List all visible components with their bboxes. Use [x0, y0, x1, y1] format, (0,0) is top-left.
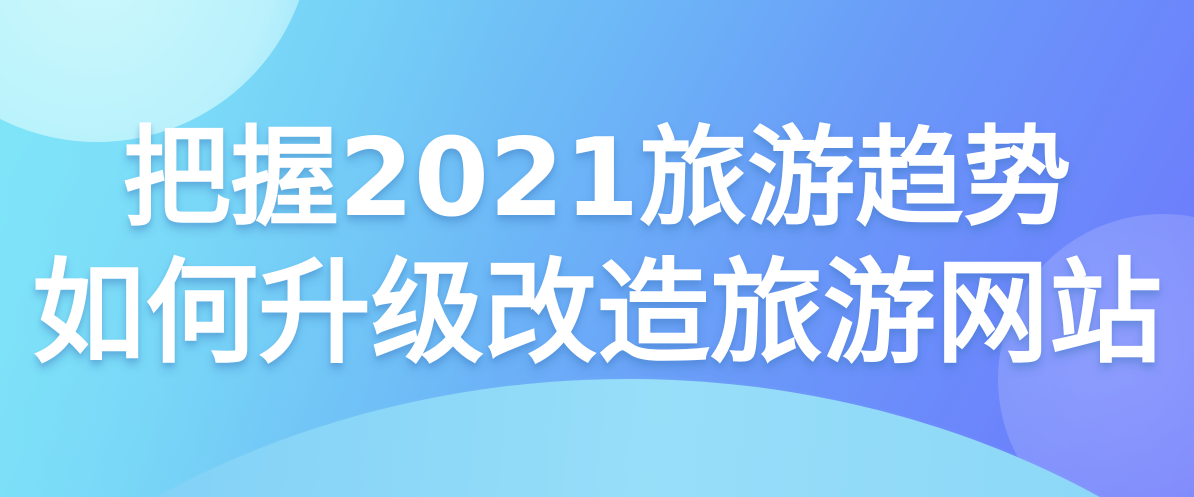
headline-block: 把握2021旅游趋势 如何升级改造旅游网站: [0, 0, 1194, 497]
headline-line-1: 把握2021旅游趋势: [123, 116, 1072, 241]
headline-line-2: 如何升级改造旅游网站: [32, 248, 1162, 379]
travel-banner: 把握2021旅游趋势 如何升级改造旅游网站: [0, 0, 1194, 497]
